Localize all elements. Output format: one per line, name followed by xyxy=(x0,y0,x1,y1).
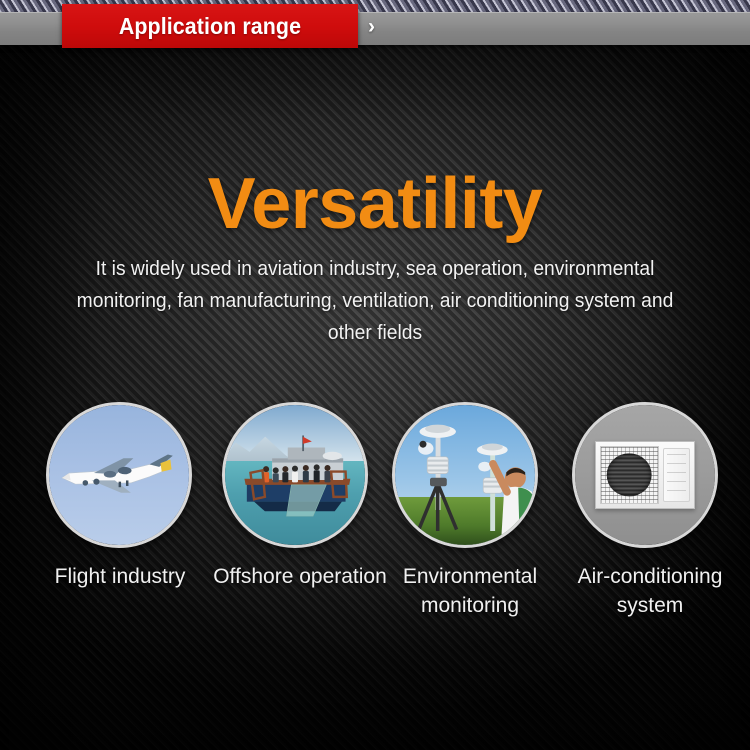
ac-outdoor-unit xyxy=(595,441,696,508)
page-title: Versatility xyxy=(0,168,750,240)
caption-flight-industry: Flight industry xyxy=(10,562,230,591)
caption-air-conditioning-system: Air-conditioning system xyxy=(552,562,748,620)
ac-side-panel xyxy=(663,448,691,503)
chevron-right-icon: › xyxy=(368,16,375,37)
circle-frame xyxy=(222,402,368,548)
application-item-air-conditioning-system xyxy=(572,402,718,548)
section-tag-label: Application range xyxy=(119,13,301,40)
application-item-flight-industry xyxy=(46,402,192,548)
offshore-vessel-photo xyxy=(225,405,365,545)
application-image-row xyxy=(0,402,750,552)
monitoring-equipment-illustration xyxy=(395,405,535,545)
header: Application range › xyxy=(0,0,750,56)
application-item-offshore-operation xyxy=(222,402,368,548)
ac-fan xyxy=(607,453,652,496)
environmental-monitoring-photo xyxy=(395,405,535,545)
airplane-photo xyxy=(49,405,189,545)
caption-offshore-operation: Offshore operation xyxy=(205,562,395,591)
application-caption-row: Flight industry Offshore operation Envir… xyxy=(0,562,750,642)
airplane-illustration xyxy=(57,447,180,511)
caption-environmental-monitoring: Environmental monitoring xyxy=(372,562,568,620)
application-range-banner: Application range › Versatility It is wi… xyxy=(0,0,750,750)
air-conditioner-unit-photo xyxy=(575,405,715,545)
circle-frame xyxy=(46,402,192,548)
section-tag: Application range xyxy=(62,4,358,48)
page-description: It is widely used in aviation industry, … xyxy=(71,253,678,349)
vessel-illustration xyxy=(236,433,356,520)
circle-frame xyxy=(392,402,538,548)
ac-grille xyxy=(600,446,659,503)
application-item-environmental-monitoring xyxy=(392,402,538,548)
circle-frame xyxy=(572,402,718,548)
